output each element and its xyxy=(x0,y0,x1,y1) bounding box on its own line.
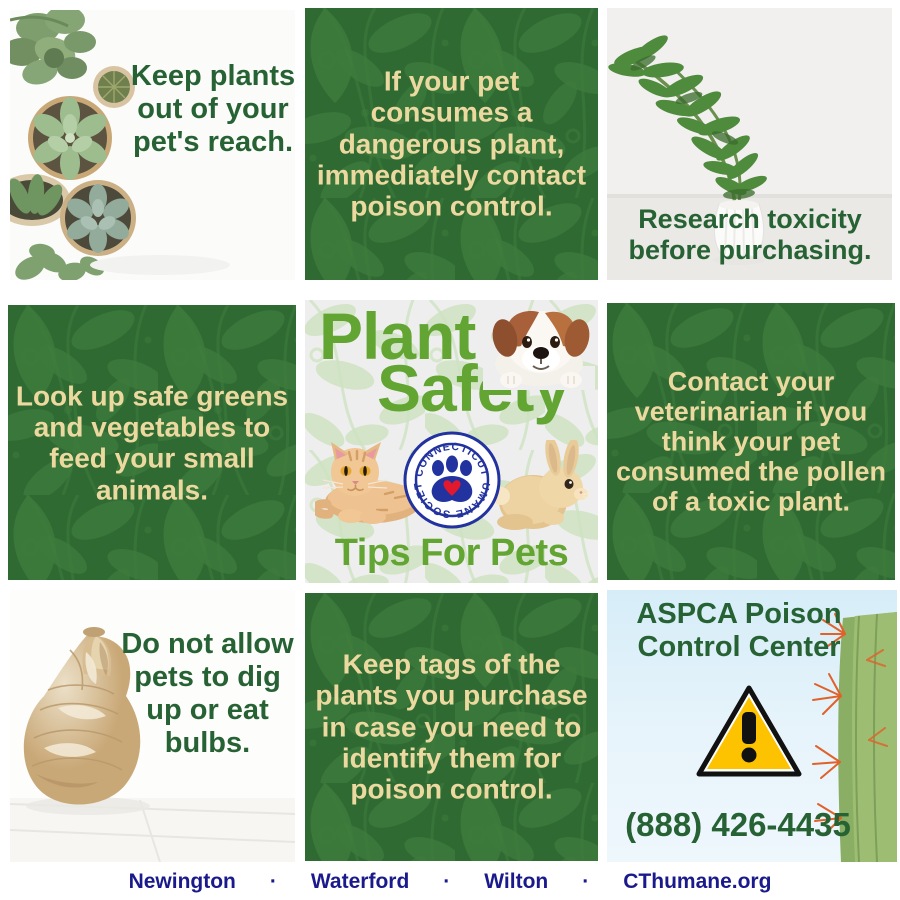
ct-humane-society-seal: CONNECTICUT HUMANE SOCIETY xyxy=(402,430,502,530)
footer-website[interactable]: CThumane.org xyxy=(623,870,771,894)
tile-do-not-allow: Do not allow pets to dig up or eat bulbs… xyxy=(10,590,295,862)
footer-separator: · xyxy=(236,870,311,894)
tile-aspca-heading: ASPCA Poison Control Center xyxy=(613,598,865,664)
tile-consumes-plant-text: If your pet consumes a dangerous plant, … xyxy=(305,66,598,223)
tile-research-toxicity-text: Research toxicity before purchasing. xyxy=(611,204,889,266)
infographic-board: Keep plants out of your pet's reach. If … xyxy=(0,0,900,900)
tile-keep-tags-text: Keep tags of the plants you purchase in … xyxy=(305,649,598,806)
tile-consumes-plant: If your pet consumes a dangerous plant, … xyxy=(305,8,598,280)
tile-research-toxicity: Research toxicity before purchasing. xyxy=(607,8,892,280)
tile-aspca: ASPCA Poison Control Center (888) 426-44… xyxy=(607,590,897,862)
footer-location-wilton: Wilton xyxy=(484,870,548,894)
tile-look-up-safe: Look up safe greens and vegetables to fe… xyxy=(8,305,296,580)
tile-keep-tags: Keep tags of the plants you purchase in … xyxy=(305,593,598,861)
warning-triangle-icon xyxy=(695,684,803,780)
footer: Newington · Waterford · Wilton · CThuman… xyxy=(0,864,900,900)
tile-do-not-allow-text: Do not allow pets to dig up or eat bulbs… xyxy=(120,628,295,760)
footer-separator: · xyxy=(409,870,484,894)
tile-keep-plants: Keep plants out of your pet's reach. xyxy=(10,10,295,280)
footer-separator: · xyxy=(548,870,623,894)
tile-logo: Plant Safety xyxy=(305,300,598,583)
rabbit-photo xyxy=(491,440,591,532)
logo-subtitle: Tips For Pets xyxy=(305,532,598,575)
footer-location-waterford: Waterford xyxy=(311,870,409,894)
tile-aspca-phone: (888) 426-4435 xyxy=(607,806,869,844)
tile-contact-vet-text: Contact your veterinarian if you think y… xyxy=(607,366,895,517)
tile-keep-plants-text: Keep plants out of your pet's reach. xyxy=(128,60,295,159)
footer-location-newington: Newington xyxy=(129,870,236,894)
tile-contact-vet: Contact your veterinarian if you think y… xyxy=(607,303,895,580)
bulldog-puppy-photo xyxy=(483,304,595,390)
tile-look-up-safe-text: Look up safe greens and vegetables to fe… xyxy=(8,380,296,505)
